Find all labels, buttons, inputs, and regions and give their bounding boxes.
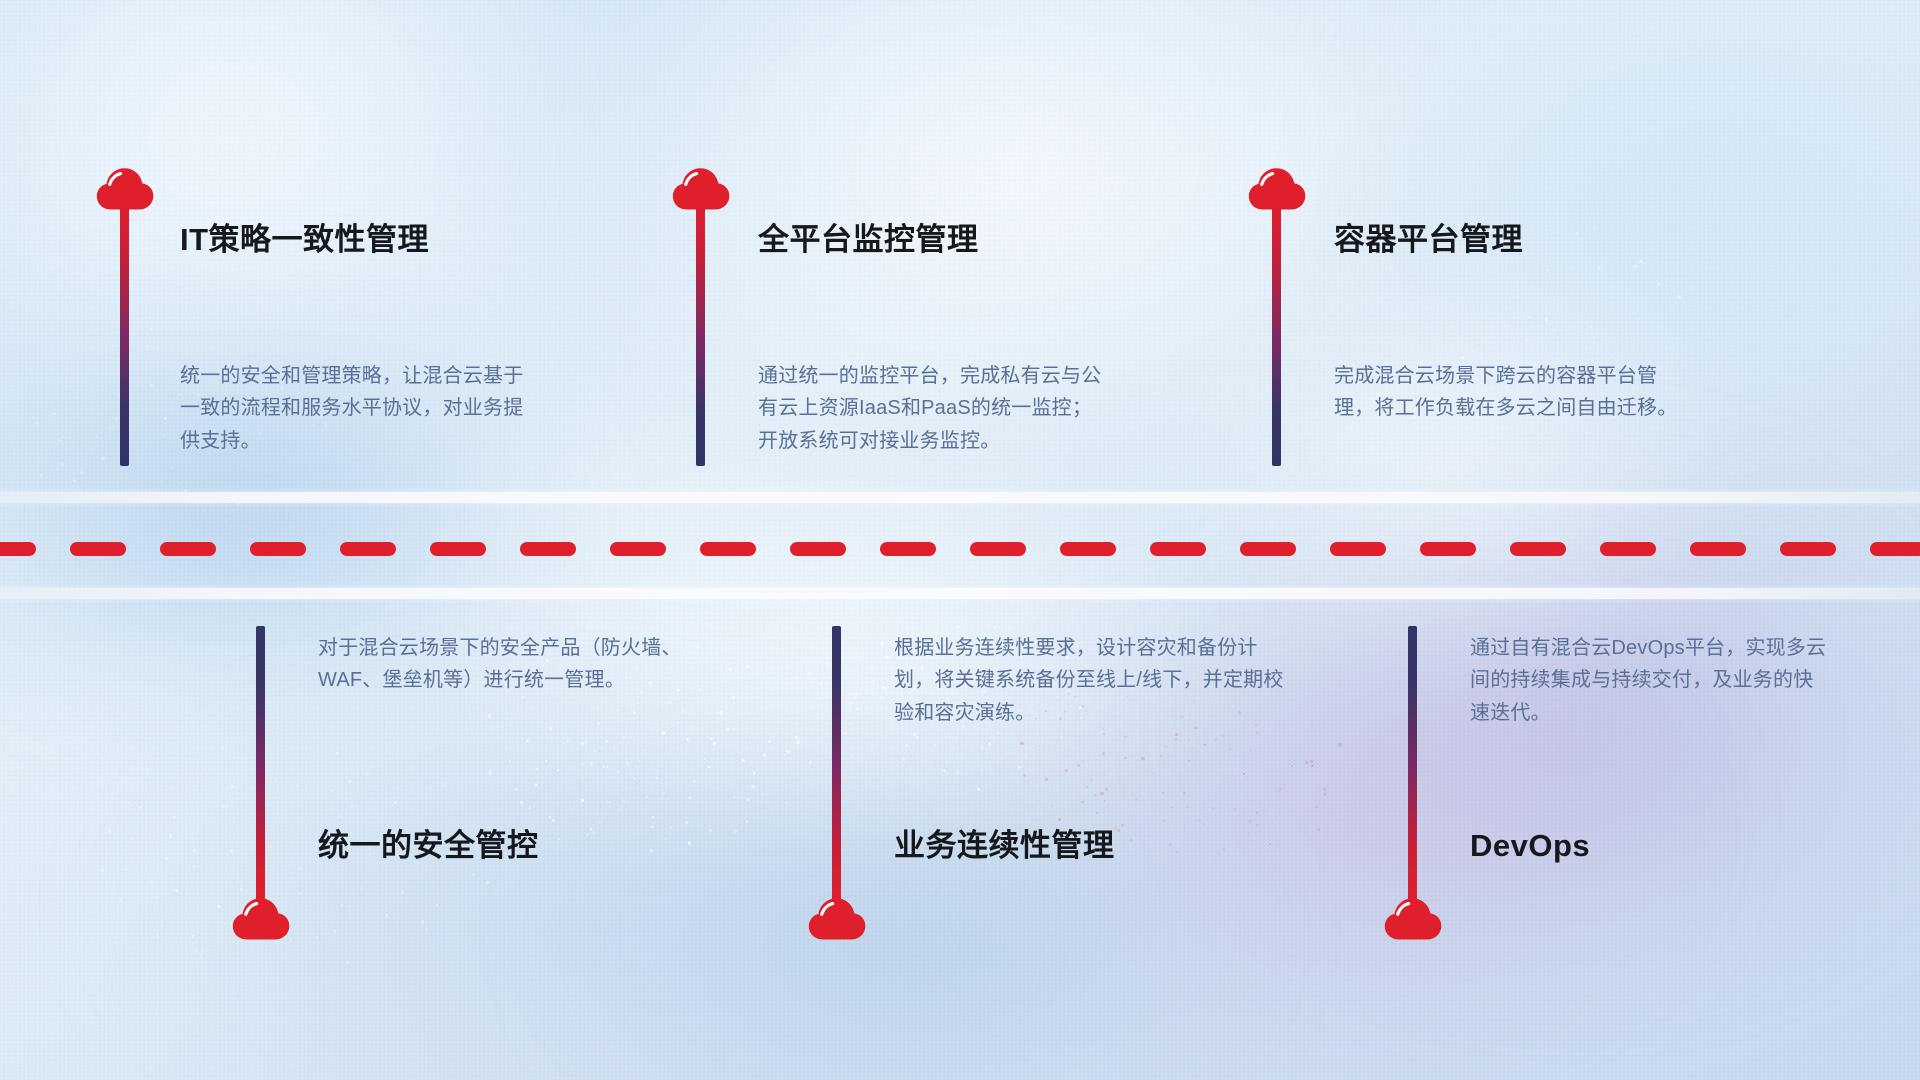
background-speck xyxy=(597,722,600,725)
background-speck xyxy=(1222,848,1224,850)
background-speck xyxy=(1130,839,1131,840)
background-speck xyxy=(1247,777,1249,779)
background-speck xyxy=(497,735,499,737)
background-speck xyxy=(115,418,117,420)
background-speck xyxy=(1188,739,1190,741)
background-speck xyxy=(156,934,159,937)
background-speck xyxy=(590,762,593,765)
background-speck xyxy=(1094,794,1096,796)
background-speck xyxy=(849,705,852,708)
background-speck xyxy=(1243,773,1245,775)
background-speck xyxy=(1554,329,1557,332)
background-speck xyxy=(849,631,850,632)
background-speck xyxy=(823,676,825,678)
background-speck xyxy=(210,811,212,813)
background-speck xyxy=(729,668,731,670)
background-speck xyxy=(150,881,153,884)
feature-description: 对于混合云场景下的安全产品（防火墙、WAF、堡垒机等）进行统一管理。 xyxy=(318,632,718,697)
background-speck xyxy=(1117,829,1120,832)
background-speck xyxy=(204,330,206,332)
feature-title: DevOps xyxy=(1470,830,1590,861)
background-speck xyxy=(535,783,538,786)
background-speck xyxy=(162,464,164,466)
background-speck xyxy=(130,838,132,840)
background-speck xyxy=(1472,350,1474,352)
background-speck xyxy=(753,772,755,774)
background-speck xyxy=(341,904,342,905)
background-speck xyxy=(350,915,353,918)
background-speck xyxy=(795,736,798,739)
background-speck xyxy=(222,805,225,808)
connector-stem xyxy=(120,200,129,466)
background-speck xyxy=(846,758,847,759)
highway-dash-segment xyxy=(1510,542,1566,556)
highway-dash-segment xyxy=(790,542,846,556)
background-speck xyxy=(1229,748,1232,751)
background-speck xyxy=(1090,778,1093,781)
background-speck xyxy=(193,849,196,852)
background-speck xyxy=(903,758,905,760)
background-speck xyxy=(510,724,511,725)
background-speck xyxy=(94,446,95,447)
background-speck xyxy=(278,860,279,861)
background-speck xyxy=(1188,760,1190,762)
background-speck xyxy=(290,939,291,940)
background-speck xyxy=(1678,295,1681,298)
background-speck xyxy=(796,676,798,678)
background-speck xyxy=(633,711,636,714)
feature-title: 全平台监控管理 xyxy=(758,224,979,255)
background-speck xyxy=(1311,724,1313,726)
background-speck xyxy=(288,972,290,974)
background-speck xyxy=(1256,811,1259,814)
background-speck xyxy=(994,626,996,628)
background-speck xyxy=(1352,283,1353,284)
background-speck xyxy=(581,799,583,801)
background-speck xyxy=(139,806,142,809)
background-speck xyxy=(1664,284,1666,286)
background-speck xyxy=(394,801,397,804)
background-speck xyxy=(1215,738,1217,740)
highway-dash-segment xyxy=(520,542,576,556)
background-speck xyxy=(769,747,770,748)
background-speck xyxy=(1065,769,1068,772)
highway-dash-segment xyxy=(430,542,486,556)
background-speck xyxy=(39,407,41,409)
background-speck xyxy=(886,655,889,658)
highway-dash-segment xyxy=(1690,542,1746,556)
background-speck xyxy=(124,868,127,871)
highway-dash-segment xyxy=(610,542,666,556)
background-speck xyxy=(1634,265,1637,268)
background-speck xyxy=(651,826,653,828)
background-speck xyxy=(173,449,175,451)
background-speck xyxy=(1081,801,1084,804)
background-speck xyxy=(1080,799,1081,800)
background-speck xyxy=(709,829,712,832)
background-speck xyxy=(275,779,277,781)
background-speck xyxy=(109,428,111,430)
background-speck xyxy=(194,950,197,953)
background-speck xyxy=(1598,267,1601,270)
highway-dash-segment xyxy=(1420,542,1476,556)
connector-stem xyxy=(696,200,705,466)
background-speck xyxy=(509,760,511,762)
background-speck xyxy=(688,841,691,844)
background-speck xyxy=(742,759,745,762)
background-speck xyxy=(916,736,919,739)
background-speck xyxy=(1153,773,1154,774)
background-speck xyxy=(856,708,858,710)
background-speck xyxy=(101,869,104,872)
background-speck xyxy=(165,857,168,860)
background-speck xyxy=(704,759,705,760)
background-speck xyxy=(1248,832,1250,834)
background-speck xyxy=(296,784,299,787)
background-speck xyxy=(609,801,611,803)
background-speck xyxy=(617,770,619,772)
background-speck xyxy=(1413,315,1415,317)
background-speck xyxy=(488,771,491,774)
feature-title: 统一的安全管控 xyxy=(318,830,539,861)
background-speck xyxy=(1162,792,1164,794)
background-speck xyxy=(348,905,351,908)
infographic-canvas: IT策略一致性管理 统一的安全和管理策略，让混合云基于一致的流程和服务水平协议，… xyxy=(0,0,1920,1080)
background-speck xyxy=(1199,820,1201,822)
background-speck xyxy=(619,809,620,810)
cloud-icon xyxy=(808,896,866,940)
background-speck xyxy=(987,624,990,627)
background-speck xyxy=(733,728,735,730)
highway-dash-segment xyxy=(1780,542,1836,556)
background-speck xyxy=(764,810,766,812)
feature-description: 统一的安全和管理策略，让混合云基于一致的流程和服务水平协议，对业务提供支持。 xyxy=(180,360,530,457)
background-speck xyxy=(1100,792,1103,795)
background-speck xyxy=(488,714,491,717)
background-speck xyxy=(1324,793,1326,795)
background-speck xyxy=(1657,283,1659,285)
highway-dash-segment xyxy=(1060,542,1116,556)
background-speck xyxy=(1203,823,1205,825)
background-speck xyxy=(746,665,749,668)
background-speck xyxy=(1377,327,1379,329)
background-speck xyxy=(141,318,143,320)
background-speck xyxy=(298,892,301,895)
background-speck xyxy=(844,732,847,735)
background-speck xyxy=(1020,742,1023,745)
background-speck xyxy=(1018,766,1021,769)
background-speck xyxy=(515,788,517,790)
background-speck xyxy=(1582,426,1584,428)
background-speck xyxy=(211,859,214,862)
background-speck xyxy=(90,345,93,348)
background-speck xyxy=(114,330,117,333)
background-speck xyxy=(199,349,202,352)
highway-dash-segment xyxy=(70,542,126,556)
background-speck xyxy=(1323,788,1326,791)
background-speck xyxy=(472,873,475,876)
background-speck xyxy=(1135,798,1138,801)
background-speck xyxy=(1222,735,1224,737)
highway-dash-segment xyxy=(970,542,1026,556)
highway-dash-segment xyxy=(1240,542,1296,556)
background-speck xyxy=(599,821,602,824)
background-speck xyxy=(1338,743,1341,746)
feature-description: 通过自有混合云DevOps平台，实现多云间的持续集成与持续交付，及业务的快速迭代… xyxy=(1470,632,1830,729)
background-speck xyxy=(1311,764,1314,767)
background-speck xyxy=(882,769,884,771)
background-speck xyxy=(314,871,315,872)
background-speck xyxy=(669,701,672,704)
background-speck xyxy=(267,804,269,806)
background-speck xyxy=(1362,299,1363,300)
background-speck xyxy=(685,821,688,824)
background-speck xyxy=(1541,337,1543,339)
background-speck xyxy=(1315,806,1318,809)
background-speck xyxy=(1671,354,1672,355)
background-speck xyxy=(746,821,748,823)
background-speck xyxy=(238,880,240,882)
background-speck xyxy=(796,740,799,743)
background-speck xyxy=(1217,774,1218,775)
background-speck xyxy=(443,783,446,786)
background-speck xyxy=(1105,788,1108,791)
background-speck xyxy=(851,755,853,757)
background-speck xyxy=(431,788,432,789)
background-speck xyxy=(1025,755,1027,757)
background-speck xyxy=(820,683,822,685)
background-speck xyxy=(1023,774,1026,777)
background-speck xyxy=(549,816,551,818)
background-speck xyxy=(662,731,665,734)
background-speck xyxy=(1141,757,1144,760)
feature-description: 根据业务连续性要求，设计容灾和备份计划，将关键系统备份至线上/线下，并定期校验和… xyxy=(894,632,1294,729)
background-speck xyxy=(1479,352,1482,355)
background-speck xyxy=(240,888,243,891)
background-speck xyxy=(62,436,64,438)
background-speck xyxy=(1537,325,1538,326)
highway-dash-segment xyxy=(1150,542,1206,556)
background-speck xyxy=(32,426,33,427)
feature-title: IT策略一致性管理 xyxy=(180,224,429,255)
feature-description: 完成混合云场景下跨云的容器平台管理，将工作负载在多云之间自由迁移。 xyxy=(1334,360,1684,425)
connector-stem xyxy=(256,626,265,902)
background-speck xyxy=(1504,325,1506,327)
background-speck xyxy=(1523,313,1525,315)
background-speck xyxy=(225,519,227,521)
background-speck xyxy=(905,744,908,747)
highway-dash-segment xyxy=(880,542,936,556)
cloud-icon xyxy=(1384,896,1442,940)
background-speck xyxy=(1103,733,1105,735)
background-speck xyxy=(1708,335,1709,336)
feature-title: 业务连续性管理 xyxy=(894,830,1115,861)
background-speck xyxy=(769,734,770,735)
background-speck xyxy=(784,754,786,756)
background-speck xyxy=(339,815,341,817)
connector-stem xyxy=(832,626,841,902)
background-speck xyxy=(1160,755,1162,757)
highway-dash-segment xyxy=(1870,542,1920,556)
background-speck xyxy=(1176,851,1178,853)
background-speck xyxy=(827,663,829,665)
background-speck xyxy=(1058,818,1061,821)
background-speck xyxy=(927,615,929,617)
background-speck xyxy=(551,739,553,741)
background-speck xyxy=(720,711,723,714)
background-speck xyxy=(708,766,709,767)
background-speck xyxy=(529,807,531,809)
background-speck xyxy=(975,746,976,747)
highway-center-dashes xyxy=(0,542,1920,556)
background-speck xyxy=(1121,824,1124,827)
highway-dash-segment xyxy=(1600,542,1656,556)
background-speck xyxy=(1256,731,1259,734)
background-speck xyxy=(734,830,737,833)
background-speck xyxy=(988,743,990,745)
background-speck xyxy=(605,740,608,743)
background-speck xyxy=(1269,843,1271,845)
background-speck xyxy=(53,413,56,416)
background-speck xyxy=(606,766,608,768)
background-speck xyxy=(1165,745,1168,748)
background-speck xyxy=(376,800,378,802)
highway-dash-segment xyxy=(250,542,306,556)
background-speck xyxy=(1103,774,1105,776)
background-speck xyxy=(217,353,219,355)
background-speck xyxy=(1639,260,1642,263)
background-speck xyxy=(592,831,595,834)
background-speck xyxy=(1593,226,1596,229)
background-speck xyxy=(193,865,196,868)
feature-title: 容器平台管理 xyxy=(1334,224,1523,255)
background-speck xyxy=(76,396,79,399)
background-speck xyxy=(1658,326,1661,329)
connector-stem xyxy=(1272,200,1281,466)
background-speck xyxy=(1124,757,1127,760)
background-speck xyxy=(686,738,689,741)
background-speck xyxy=(95,435,98,438)
highway-upper-edge xyxy=(0,492,1920,503)
background-speck xyxy=(169,834,172,837)
background-speck xyxy=(1051,805,1053,807)
background-speck xyxy=(1045,778,1048,781)
highway-dash-segment xyxy=(160,542,216,556)
background-speck xyxy=(1026,765,1027,766)
background-speck xyxy=(143,484,145,486)
highway-dash-segment xyxy=(700,542,756,556)
background-speck xyxy=(105,449,106,450)
cloud-icon xyxy=(232,896,290,940)
background-speck xyxy=(146,345,148,347)
background-speck xyxy=(247,758,248,759)
background-speck xyxy=(164,417,167,420)
background-speck xyxy=(808,672,811,675)
background-speck xyxy=(1305,761,1308,764)
background-speck xyxy=(1081,760,1084,763)
background-speck xyxy=(73,479,76,482)
background-speck xyxy=(1557,231,1559,233)
background-speck xyxy=(279,797,281,799)
background-speck xyxy=(372,785,374,787)
background-speck xyxy=(689,797,691,799)
background-speck xyxy=(1186,806,1188,808)
background-speck xyxy=(351,805,353,807)
background-speck xyxy=(132,488,134,490)
background-speck xyxy=(579,716,581,718)
background-speck xyxy=(13,448,16,451)
background-speck xyxy=(119,899,122,902)
background-speck xyxy=(150,384,153,387)
background-speck xyxy=(1096,812,1098,814)
background-speck xyxy=(1625,322,1627,324)
highway-dash-segment xyxy=(340,542,396,556)
background-speck xyxy=(652,816,654,818)
background-speck xyxy=(1250,749,1251,750)
background-speck xyxy=(1611,355,1613,357)
background-speck xyxy=(1256,824,1258,826)
background-speck xyxy=(786,802,787,803)
highway-lower-edge xyxy=(0,588,1920,599)
background-speck xyxy=(484,717,485,718)
background-speck xyxy=(102,457,105,460)
background-speck xyxy=(1545,318,1548,321)
background-speck xyxy=(150,327,153,330)
background-speck xyxy=(366,772,368,774)
background-speck xyxy=(726,728,729,731)
background-speck xyxy=(882,686,885,689)
background-speck xyxy=(1061,735,1063,737)
background-speck xyxy=(161,920,162,921)
feature-description: 通过统一的监控平台，完成私有云与公有云上资源IaaS和PaaS的统一监控；开放系… xyxy=(758,360,1108,457)
background-speck xyxy=(751,785,754,788)
background-speck xyxy=(585,740,588,743)
background-speck xyxy=(549,727,552,730)
background-speck xyxy=(230,849,233,852)
connector-stem xyxy=(1408,626,1417,902)
background-speck xyxy=(231,799,234,802)
background-speck xyxy=(316,936,317,937)
background-speck xyxy=(1590,326,1592,328)
background-speck xyxy=(597,707,599,709)
background-speck xyxy=(1575,232,1578,235)
background-speck xyxy=(590,828,592,830)
background-speck xyxy=(238,340,241,343)
background-speck xyxy=(613,747,615,749)
background-speck xyxy=(179,482,181,484)
background-speck xyxy=(1565,339,1566,340)
highway-dash-segment xyxy=(1330,542,1386,556)
background-speck xyxy=(1462,356,1465,359)
background-speck xyxy=(650,849,653,852)
background-speck xyxy=(331,789,333,791)
background-speck xyxy=(565,772,566,773)
highway-dash-segment xyxy=(0,542,36,556)
background-speck xyxy=(175,889,177,891)
background-speck xyxy=(201,950,204,953)
background-speck xyxy=(871,744,873,746)
background-speck xyxy=(701,790,702,791)
background-speck xyxy=(885,692,888,695)
background-speck xyxy=(1126,736,1127,737)
background-speck xyxy=(981,747,982,748)
background-speck xyxy=(732,696,735,699)
background-speck xyxy=(1045,762,1046,763)
background-speck xyxy=(192,935,194,937)
